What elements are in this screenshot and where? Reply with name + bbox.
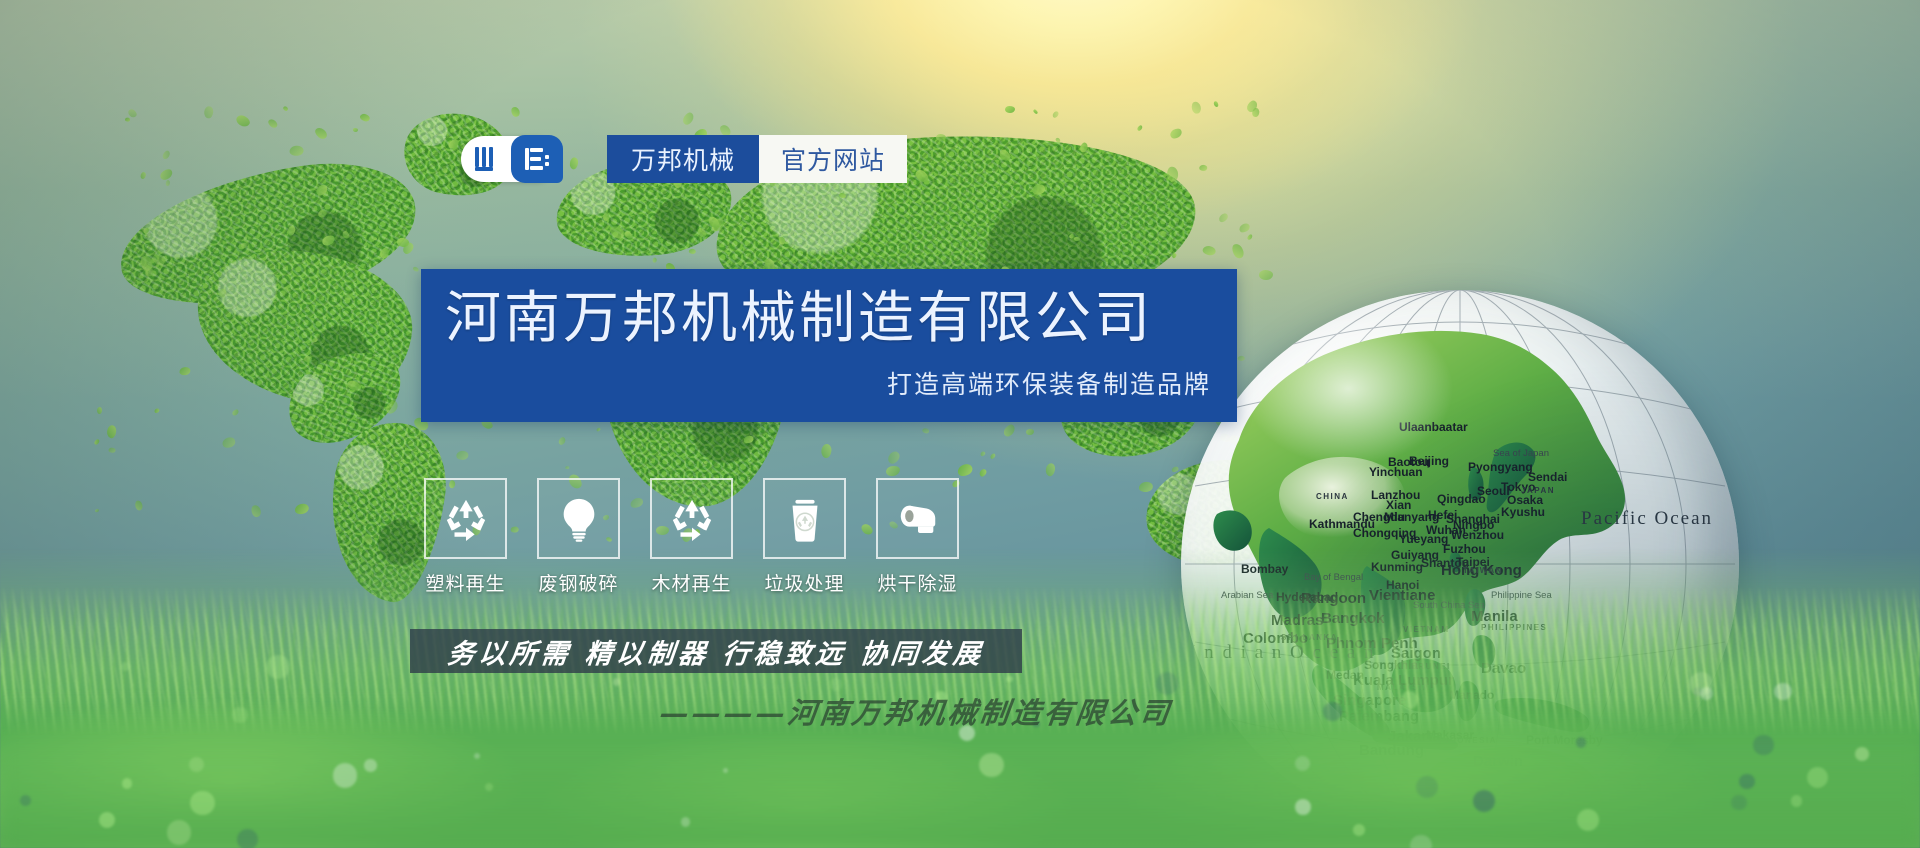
service-label: 木材再生	[651, 569, 731, 596]
globe-city-label: Wuhan	[1426, 523, 1466, 537]
dew-bokeh	[1731, 795, 1746, 810]
hero-title-banner: 河南万邦机械制造有限公司 打造高端环保装备制造品牌	[421, 269, 1237, 422]
dew-bokeh	[1295, 756, 1310, 771]
trash-bin-icon	[763, 478, 846, 559]
header-nav-tabs: 万邦机械 官方网站	[607, 135, 907, 183]
page-title: 河南万邦机械制造有限公司	[421, 291, 1237, 347]
page-subtitle: 打造高端环保装备制造品牌	[421, 365, 1237, 401]
service-label: 烘干除湿	[877, 569, 957, 596]
globe-city-label: Sendai	[1528, 470, 1567, 484]
site-header: 万邦机械 官方网站	[461, 131, 907, 187]
globe-city-label: Hefei	[1428, 508, 1457, 522]
dew-bokeh	[364, 759, 376, 771]
service-item-plastic-recycling[interactable]: 塑料再生	[421, 478, 510, 596]
recycle-icon	[650, 478, 733, 559]
dew-bokeh	[1576, 737, 1586, 747]
dew-bokeh	[485, 783, 493, 791]
dew-bokeh	[189, 757, 204, 772]
globe-city-label: Baotou	[1388, 455, 1429, 469]
dew-bokeh	[613, 678, 621, 686]
logo-b-icon	[524, 147, 550, 171]
dew-bokeh	[681, 817, 690, 826]
service-item-wood-recycling[interactable]: 木材再生	[647, 478, 736, 596]
dew-bokeh	[1577, 809, 1599, 831]
logo-b-badge	[511, 135, 563, 183]
globe-country-label: JAPAN	[1521, 486, 1555, 495]
service-item-drying-dehumidification[interactable]: 烘干除湿	[873, 478, 962, 596]
dew-bokeh	[167, 820, 191, 844]
dew-bokeh	[979, 753, 1004, 778]
dew-bokeh	[1416, 776, 1438, 798]
globe-city-label: Lanzhou	[1371, 488, 1420, 502]
dew-bokeh	[1295, 799, 1311, 815]
globe-country-label: CHINA	[1316, 492, 1349, 501]
logo-badge[interactable]	[461, 136, 559, 182]
slogan-signature: ————河南万邦机械制造有限公司	[657, 690, 1222, 732]
globe-city-label: Pyongyang	[1468, 460, 1533, 474]
dew-bokeh	[237, 829, 258, 848]
tab-label: 万邦机械	[631, 141, 735, 177]
dew-bokeh	[830, 678, 842, 690]
logo-w-icon	[474, 145, 504, 173]
tab-wanbang-machinery[interactable]: 万邦机械	[607, 135, 759, 183]
dew-bokeh	[1323, 702, 1341, 720]
globe-city-label: Ulaanbaatar	[1399, 420, 1468, 434]
dew-bokeh	[232, 707, 248, 723]
dew-bokeh	[121, 662, 129, 670]
dew-bokeh	[1807, 767, 1828, 788]
hero-banner-page: Pacific OceanI n d i a n O c e a nHong K…	[0, 0, 1920, 848]
dew-bokeh	[20, 795, 31, 806]
service-label: 塑料再生	[425, 569, 505, 596]
dew-bokeh	[99, 812, 115, 828]
lightbulb-icon	[537, 478, 620, 559]
globe-city-label: Qingdao	[1437, 492, 1486, 506]
tab-official-website[interactable]: 官方网站	[759, 135, 907, 183]
service-label: 垃圾处理	[764, 569, 844, 596]
service-item-waste-treatment[interactable]: 垃圾处理	[760, 478, 849, 596]
dew-bokeh	[1791, 795, 1802, 806]
globe-ocean-label: Pacific Ocean	[1581, 508, 1713, 530]
globe-city-label: Kyushu	[1501, 505, 1545, 519]
service-label: 废钢破碎	[538, 569, 618, 596]
tab-label: 官方网站	[781, 141, 885, 177]
service-icon-row: 塑料再生 废钢破碎	[421, 478, 962, 596]
slogan-bar: 务以所需 精以制器 行稳致远 协同发展	[410, 629, 1022, 673]
slogan-text: 务以所需 精以制器 行稳致远 协同发展	[446, 632, 986, 671]
dew-bokeh	[1006, 676, 1013, 683]
dew-bokeh	[1473, 790, 1495, 812]
service-item-scrap-steel-crushing[interactable]: 废钢破碎	[534, 478, 623, 596]
dryer-blower-icon	[876, 478, 959, 559]
dew-bokeh	[122, 778, 132, 788]
dew-bokeh	[1739, 774, 1754, 789]
recycle-icon	[424, 478, 507, 559]
globe-sea-label: Sea of Japan	[1493, 448, 1549, 459]
